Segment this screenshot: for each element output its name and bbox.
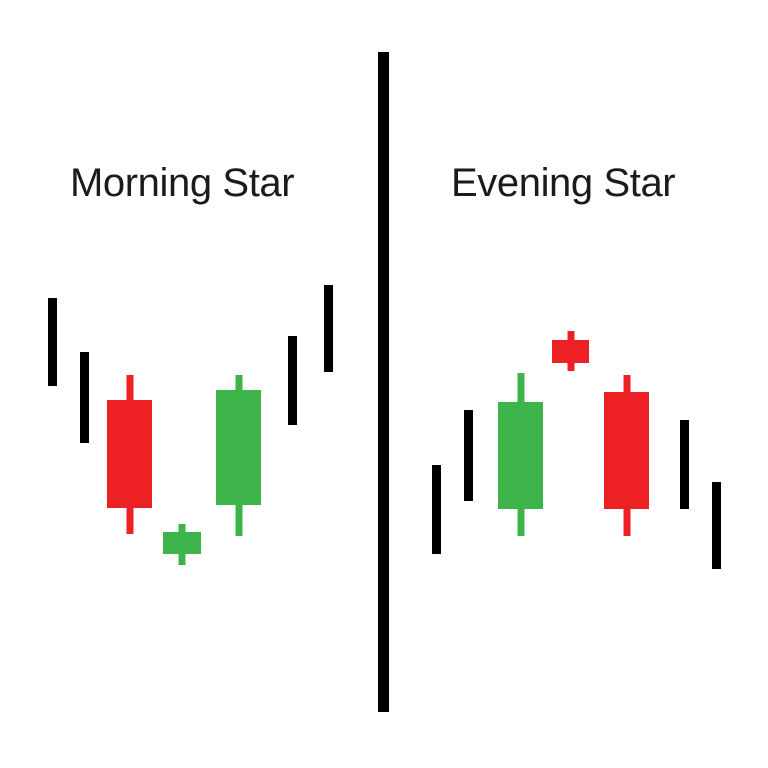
price-bar-following-bar-2 (712, 482, 721, 569)
price-bar-prior-bar-2 (464, 410, 473, 501)
panel-title-morning-star: Morning Star (70, 163, 294, 203)
candlestick-long-bullish-candle (216, 375, 261, 536)
price-bar-following-bar-1 (288, 336, 297, 425)
candlestick-body (552, 340, 589, 363)
price-bar-following-bar-1 (680, 420, 689, 509)
candlestick-star-doji-candle (552, 331, 589, 371)
price-bar-prior-bar-1 (432, 465, 441, 554)
candlestick-long-bearish-candle (604, 375, 649, 536)
candlestick-body (163, 532, 201, 554)
price-bar-following-bar-2 (324, 285, 333, 372)
price-bar-prior-bar-1 (48, 298, 57, 386)
panel-title-evening-star: Evening Star (451, 163, 675, 203)
candlestick-long-bullish-candle (498, 373, 543, 536)
candlestick-star-doji-candle (163, 524, 201, 565)
price-bar-prior-bar-2 (80, 352, 89, 443)
candlestick-body (604, 392, 649, 509)
candlestick-pattern-figure: Morning Star Evening Star (0, 0, 768, 768)
candlestick-body (498, 402, 543, 509)
candlestick-body (107, 400, 152, 508)
panel-divider (378, 52, 389, 712)
candlestick-long-bearish-candle (107, 375, 152, 534)
candlestick-body (216, 390, 261, 505)
